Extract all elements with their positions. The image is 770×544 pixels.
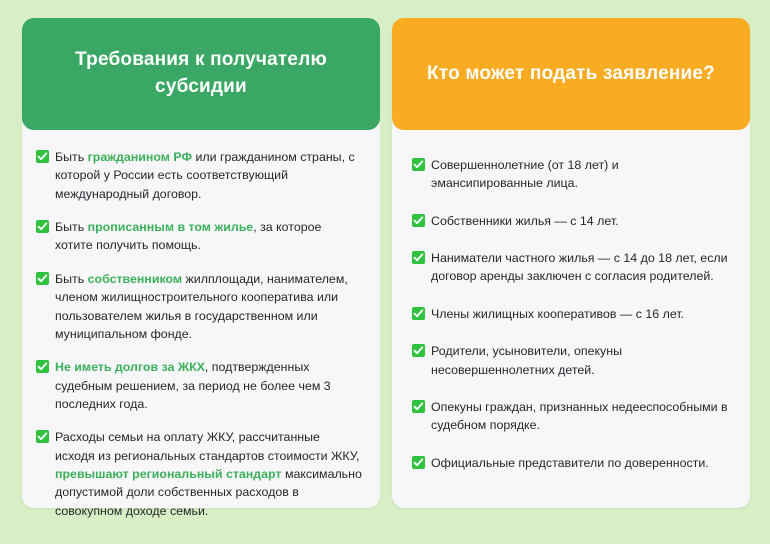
- highlighted-phrase: собственником: [88, 272, 182, 286]
- applicants-card: Кто может подать заявление? Совершенноле…: [392, 18, 750, 508]
- list-item-text: Быть гражданином РФ или гражданином стра…: [55, 148, 362, 203]
- list-item: Члены жилищных кооперативов — с 16 лет.: [412, 305, 732, 323]
- highlighted-phrase: прописанным в том жилье: [88, 220, 254, 234]
- list-item: Расходы семьи на оплату ЖКУ, рассчитанны…: [36, 428, 362, 520]
- plain-phrase: Собственники жилья — с 14 лет.: [431, 214, 619, 228]
- applicants-list: Совершеннолетние (от 18 лет) и эмансипир…: [392, 130, 750, 508]
- list-item: Быть прописанным в том жилье, за которое…: [36, 218, 362, 255]
- check-box-icon: [412, 307, 425, 320]
- list-item: Наниматели частного жилья — с 14 до 18 л…: [412, 249, 732, 286]
- check-box-icon: [36, 220, 49, 233]
- list-item: Совершеннолетние (от 18 лет) и эмансипир…: [412, 156, 732, 193]
- plain-phrase: Быть: [55, 272, 88, 286]
- list-item-text: Опекуны граждан, признанных недееспособн…: [431, 398, 732, 435]
- list-item: Официальные представители по доверенност…: [412, 454, 732, 472]
- list-item-text: Быть собственником жилплощади, нанимател…: [55, 270, 362, 343]
- plain-phrase: Совершеннолетние (от 18 лет) и эмансипир…: [431, 158, 619, 190]
- list-item: Быть собственником жилплощади, нанимател…: [36, 270, 362, 343]
- check-box-icon: [36, 150, 49, 163]
- infographic-board: Требования к получателю субсидии Быть гр…: [0, 0, 770, 544]
- list-item: Быть гражданином РФ или гражданином стра…: [36, 148, 362, 203]
- applicants-card-title: Кто может подать заявление?: [427, 61, 715, 88]
- list-item-text: Быть прописанным в том жилье, за которое…: [55, 218, 362, 255]
- check-box-icon: [36, 360, 49, 373]
- check-box-icon: [36, 430, 49, 443]
- plain-phrase: Родители, усыновители, опекуны несоверше…: [431, 344, 622, 376]
- check-box-icon: [412, 158, 425, 171]
- list-item-text: Не иметь долгов за ЖКХ, подтвержденных с…: [55, 358, 362, 413]
- list-item-text: Официальные представители по доверенност…: [431, 454, 709, 472]
- highlighted-phrase: гражданином РФ: [88, 150, 192, 164]
- plain-phrase: Быть: [55, 150, 88, 164]
- highlighted-phrase: превышают региональный стандарт: [55, 467, 282, 481]
- highlighted-phrase: Не иметь долгов за ЖКХ: [55, 360, 205, 374]
- list-item-text: Совершеннолетние (от 18 лет) и эмансипир…: [431, 156, 732, 193]
- requirements-card: Требования к получателю субсидии Быть гр…: [22, 18, 380, 508]
- list-item: Родители, усыновители, опекуны несоверше…: [412, 342, 732, 379]
- list-item-text: Расходы семьи на оплату ЖКУ, рассчитанны…: [55, 428, 362, 520]
- list-item-text: Наниматели частного жилья — с 14 до 18 л…: [431, 249, 732, 286]
- list-item: Не иметь долгов за ЖКХ, подтвержденных с…: [36, 358, 362, 413]
- requirements-card-title: Требования к получателю субсидии: [48, 47, 354, 101]
- plain-phrase: Быть: [55, 220, 88, 234]
- check-box-icon: [412, 344, 425, 357]
- check-box-icon: [412, 400, 425, 413]
- plain-phrase: Наниматели частного жилья — с 14 до 18 л…: [431, 251, 728, 283]
- list-item-text: Родители, усыновители, опекуны несоверше…: [431, 342, 732, 379]
- plain-phrase: Члены жилищных кооперативов — с 16 лет.: [431, 307, 684, 321]
- check-box-icon: [412, 214, 425, 227]
- requirements-list: Быть гражданином РФ или гражданином стра…: [22, 130, 380, 534]
- list-item: Опекуны граждан, признанных недееспособн…: [412, 398, 732, 435]
- requirements-card-header: Требования к получателю субсидии: [22, 18, 380, 130]
- check-box-icon: [36, 272, 49, 285]
- check-box-icon: [412, 251, 425, 264]
- plain-phrase: Расходы семьи на оплату ЖКУ, рассчитанны…: [55, 430, 359, 462]
- plain-phrase: Опекуны граждан, признанных недееспособн…: [431, 400, 728, 432]
- applicants-card-header: Кто может подать заявление?: [392, 18, 750, 130]
- list-item: Собственники жилья — с 14 лет.: [412, 212, 732, 230]
- check-box-icon: [412, 456, 425, 469]
- plain-phrase: Официальные представители по доверенност…: [431, 456, 709, 470]
- list-item-text: Члены жилищных кооперативов — с 16 лет.: [431, 305, 684, 323]
- list-item-text: Собственники жилья — с 14 лет.: [431, 212, 619, 230]
